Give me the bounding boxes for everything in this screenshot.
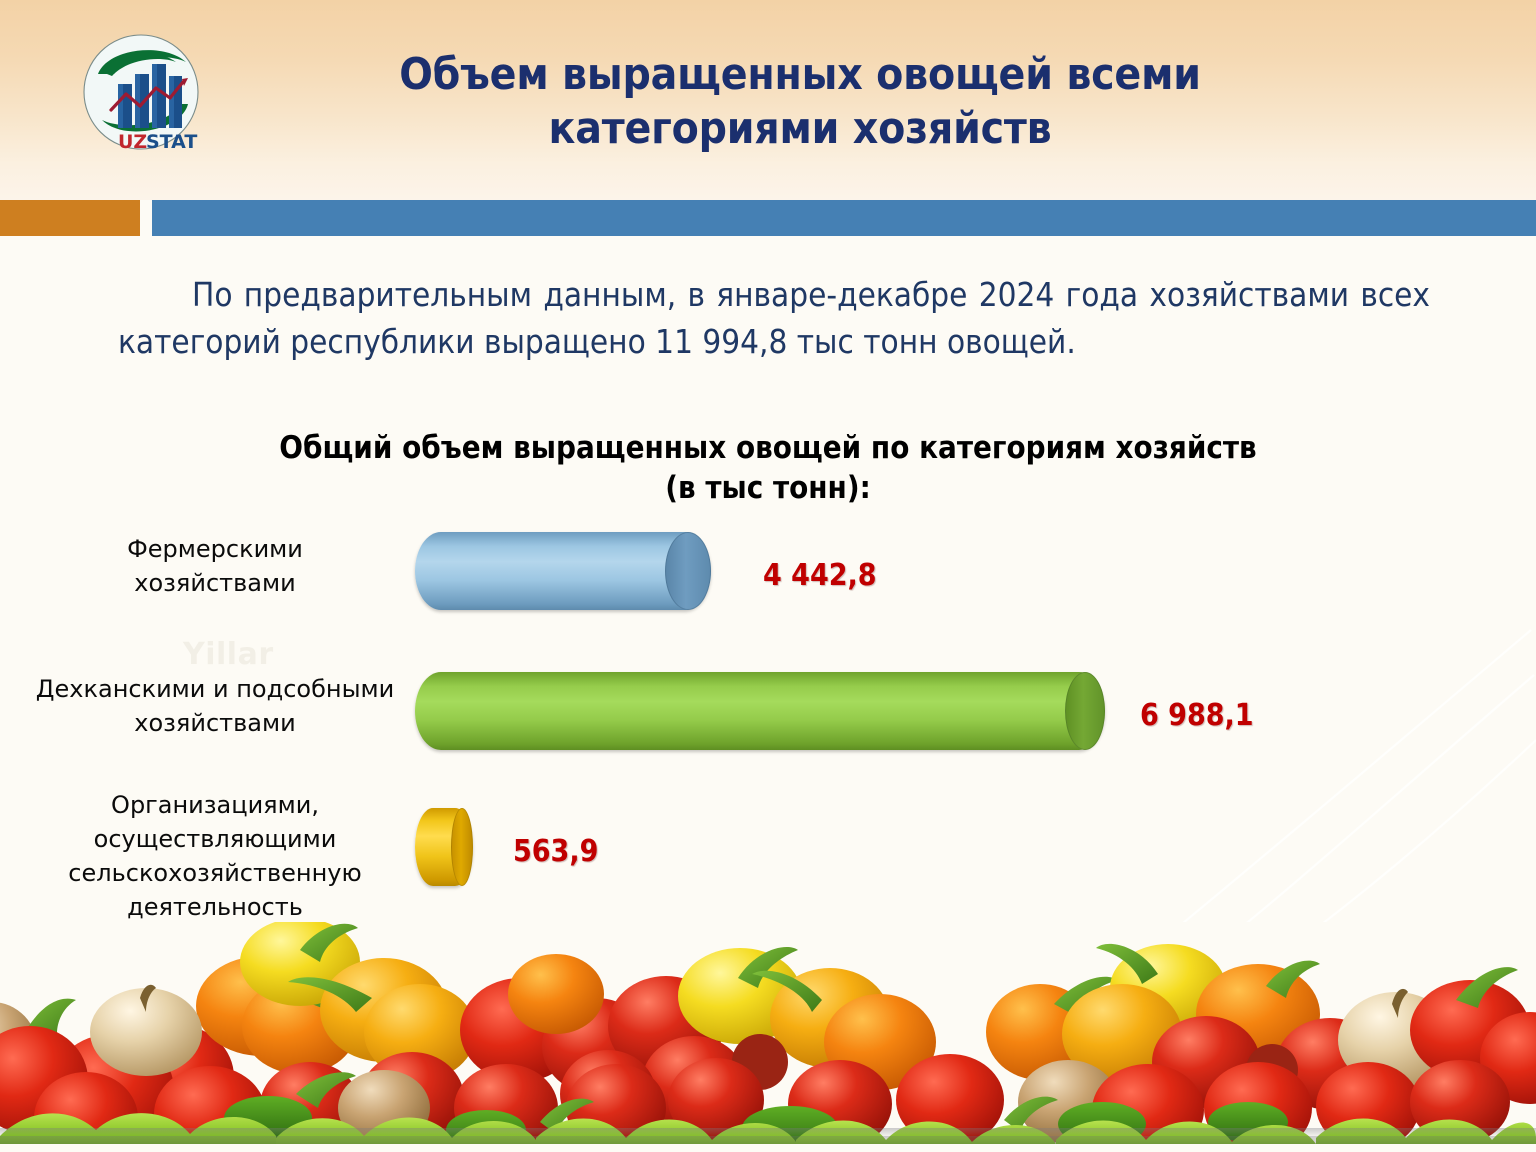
bar-chart: Фермерскими хозяйствами 4 442,8 Дехканск… [0, 510, 1536, 930]
bar-label-line: Фермерскими [30, 532, 400, 566]
page-title-line-1: Объем выращенных овощей всеми [300, 48, 1300, 102]
chart-title: Общий объем выращенных овощей по категор… [118, 428, 1418, 509]
bar-label-line: Организациями, [30, 788, 400, 822]
uzstat-logo: UZ STAT [78, 32, 204, 158]
banner-bar-orange [0, 200, 140, 236]
bar-label-dehkan: Дехканскими и подсобными хозяйствами [30, 672, 400, 740]
chart-title-line-1: Общий объем выращенных овощей по категор… [118, 428, 1418, 468]
bar-value-farms: 4 442,8 [763, 558, 877, 593]
chart-row-dehkan: Дехканскими и подсобными хозяйствами 6 9… [0, 650, 1536, 780]
bar-value-dehkan: 6 988,1 [1140, 698, 1254, 733]
bar-label-line: осуществляющими [30, 822, 400, 856]
bar-label-line: Дехканскими и подсобными [30, 672, 400, 706]
slide-header: UZ STAT Объем выращенных овощей всеми ка… [0, 0, 1536, 200]
page-title: Объем выращенных овощей всеми категориям… [300, 48, 1300, 155]
bar-label-line: деятельность [30, 890, 400, 924]
logo-text-uz: UZ [118, 131, 147, 153]
bar-label-line: хозяйствами [30, 566, 400, 600]
bar-cylinder-dehkan [415, 672, 1105, 750]
page-title-line-2: категориями хозяйств [300, 102, 1300, 156]
chart-row-organizations: Организациями, осуществляющими сельскохо… [0, 778, 1536, 928]
intro-paragraph: По предварительным данным, в январе-дека… [118, 272, 1430, 366]
banner-bar-blue [152, 200, 1536, 236]
bar-label-line: сельскохозяйственную [30, 856, 400, 890]
bar-value-organizations: 563,9 [513, 834, 598, 869]
bar-cylinder-organizations [415, 808, 473, 886]
vegetable-shadow-line [0, 1128, 1536, 1138]
bar-label-line: хозяйствами [30, 706, 400, 740]
vegetable-illustration [0, 922, 1536, 1152]
logo-text-stat: STAT [146, 131, 197, 153]
chart-title-line-2: (в тыс тонн): [118, 468, 1418, 508]
bar-label-organizations: Организациями, осуществляющими сельскохо… [30, 788, 400, 924]
bar-label-farms: Фермерскими хозяйствами [30, 532, 400, 600]
bar-cylinder-farms [415, 532, 711, 610]
chart-row-farms: Фермерскими хозяйствами 4 442,8 [0, 510, 1536, 640]
vegetable-border [0, 922, 1536, 1152]
slide-root: UZ STAT Объем выращенных овощей всеми ка… [0, 0, 1536, 1152]
